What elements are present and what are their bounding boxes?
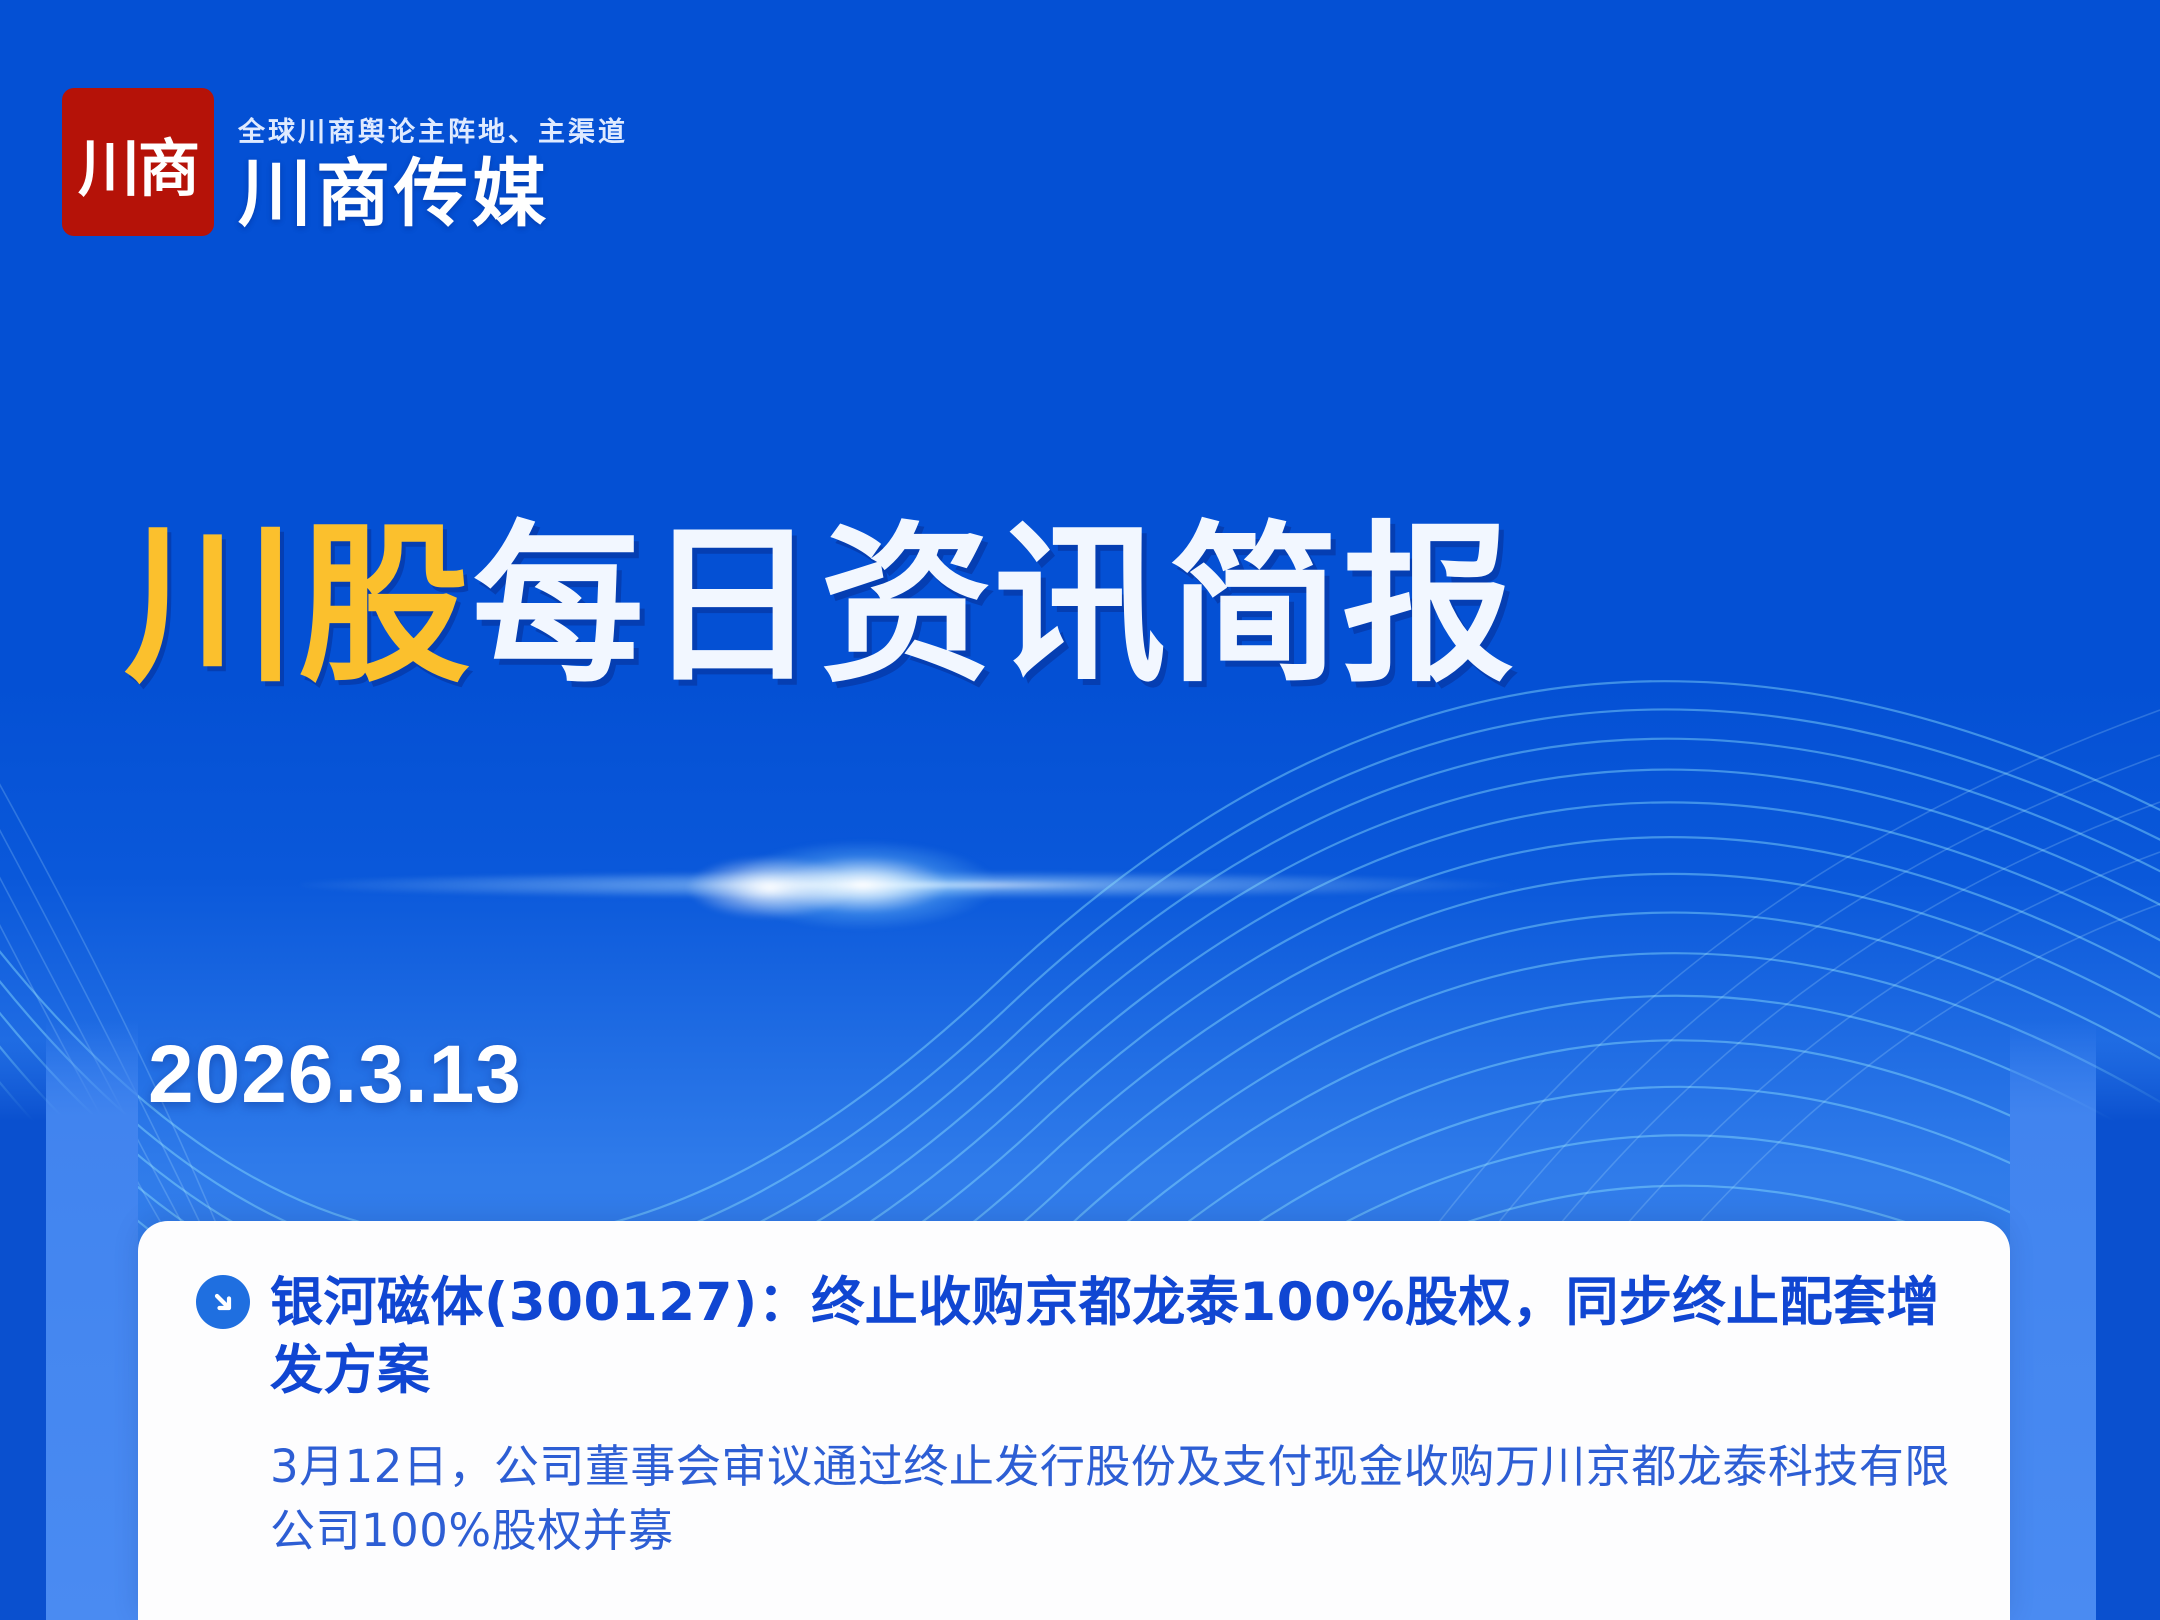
brand-header: 川商 全球川商舆论主阵地、主渠道 川商传媒 — [62, 88, 628, 236]
poster-root: 川商 全球川商舆论主阵地、主渠道 川商传媒 川股每日资讯简报 2026.3.13… — [0, 0, 2160, 1620]
light-flare-core — [560, 835, 980, 940]
arrow-down-right-circle-icon — [196, 1275, 250, 1329]
brand-tagline: 全球川商舆论主阵地、主渠道 — [238, 110, 628, 149]
left-light-band — [46, 1020, 138, 1620]
page-title: 川股每日资讯简报 — [124, 520, 1516, 692]
page-title-accent: 川股 — [124, 505, 472, 706]
news-item[interactable]: 银河磁体(300127)：终止收购京都龙泰100%股权，同步终止配套增发方案 3… — [138, 1221, 2010, 1562]
news-card: 银河磁体(300127)：终止收购京都龙泰100%股权，同步终止配套增发方案 3… — [138, 1221, 2010, 1620]
logo-mark: 川商 — [62, 88, 214, 236]
logo-mark-text: 川商 — [78, 138, 198, 200]
news-body: 3月12日，公司董事会审议通过终止发行股份及支付现金收购万川京都龙泰科技有限公司… — [270, 1435, 1952, 1563]
issue-date: 2026.3.13 — [148, 1028, 522, 1122]
page-title-main: 每日资讯简报 — [472, 505, 1516, 706]
left-dark-band — [0, 1040, 46, 1620]
brand-name: 川商传媒 — [238, 153, 628, 236]
news-headline: 银河磁体(300127)：终止收购京都龙泰100%股权，同步终止配套增发方案 — [270, 1269, 1952, 1405]
news-headline-row: 银河磁体(300127)：终止收购京都龙泰100%股权，同步终止配套增发方案 — [196, 1269, 1952, 1405]
right-light-band — [2010, 1020, 2096, 1620]
logo-text-block: 全球川商舆论主阵地、主渠道 川商传媒 — [238, 88, 628, 236]
light-flare-glow — [300, 770, 1550, 1000]
right-dark-band — [2096, 1040, 2160, 1620]
